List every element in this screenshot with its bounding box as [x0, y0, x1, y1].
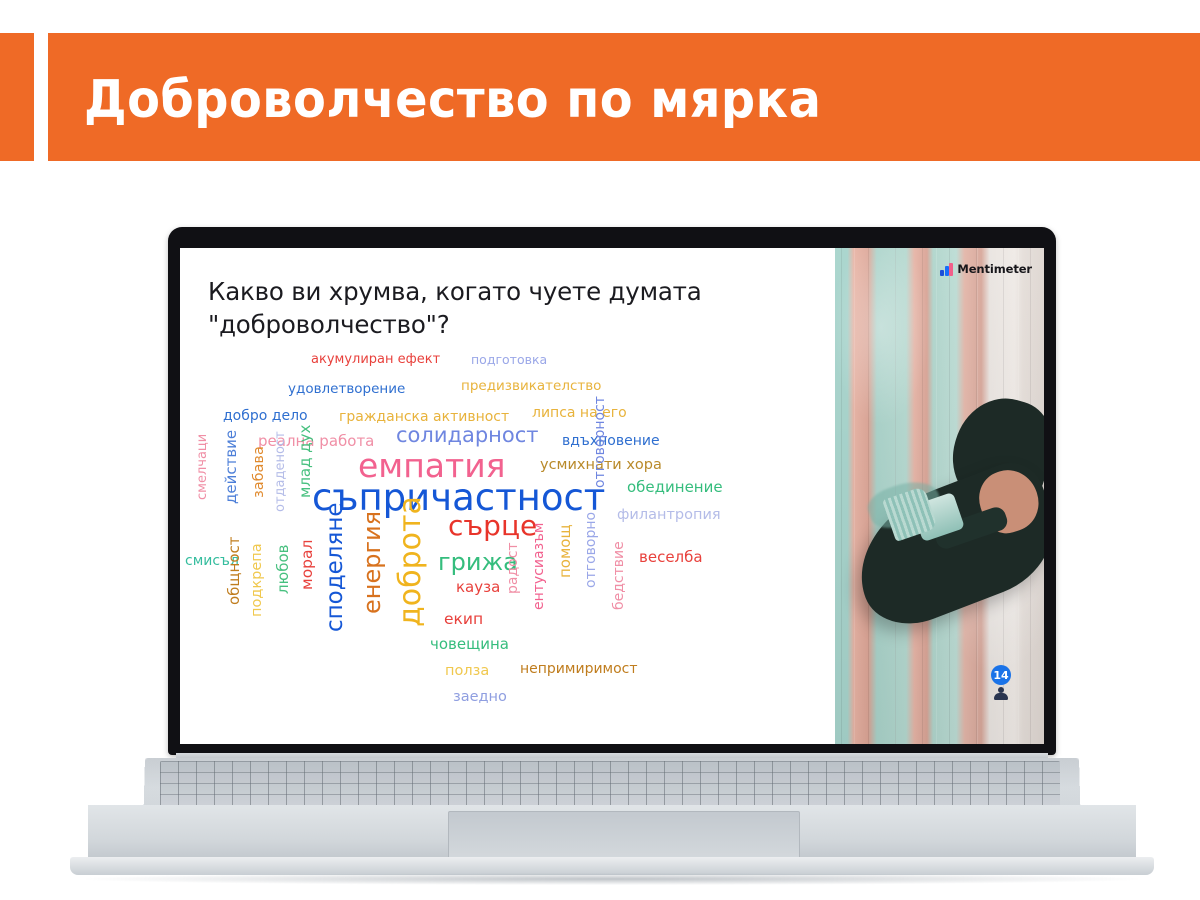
word-cloud-term: акумулиран ефект — [311, 353, 440, 366]
word-cloud-term: помощ — [558, 524, 573, 578]
word-cloud-term: енергия — [360, 511, 384, 614]
word-cloud-term: полза — [445, 664, 489, 679]
word-cloud-term: добро дело — [223, 409, 308, 423]
word-cloud-term: действие — [224, 430, 239, 504]
laptop-shadow — [86, 873, 1138, 885]
mentimeter-logo: Mentimeter — [940, 262, 1032, 276]
slide-question-text: Какво ви хрумва, когато чуете думата "до… — [208, 275, 783, 341]
mentimeter-mark-icon — [940, 263, 953, 276]
word-cloud-term: солидарност — [396, 425, 539, 446]
mentimeter-wordmark: Mentimeter — [957, 262, 1032, 276]
word-cloud-term: отдаденост — [274, 431, 287, 512]
person-icon — [994, 687, 1008, 700]
presentation-slide: Какво ви хрумва, когато чуете думата "до… — [180, 248, 1044, 744]
word-cloud-term: заедно — [453, 690, 507, 705]
laptop-trackpad — [448, 811, 800, 859]
word-cloud-term: подкрепа — [250, 543, 265, 617]
laptop-lid: Какво ви хрумва, когато чуете думата "до… — [168, 227, 1056, 755]
word-cloud-term: общност — [227, 536, 242, 605]
word-cloud-term: екип — [444, 612, 483, 628]
word-cloud-term: човещина — [430, 637, 509, 652]
laptop-keyboard-keys — [160, 761, 1060, 807]
word-cloud-term: филантропия — [617, 508, 721, 523]
word-cloud-term: сърце — [448, 512, 537, 540]
word-cloud-term: обединение — [627, 480, 723, 495]
slide-photo: Mentimeter 14 — [835, 248, 1044, 744]
word-cloud-term: споделяне — [324, 502, 347, 632]
word-cloud-term: морал — [300, 540, 316, 590]
word-cloud-term: непримиримост — [520, 662, 638, 676]
word-cloud-term: кауза — [456, 580, 500, 595]
word-cloud-term: доброта — [396, 496, 426, 627]
banner-accent-block — [0, 33, 34, 161]
word-cloud-term: бедствие — [612, 541, 626, 610]
page-title: Доброволчество по мярка — [84, 69, 821, 131]
word-cloud-term: отговорно — [584, 512, 598, 588]
word-cloud-term: отговорност — [593, 396, 607, 488]
word-cloud-term: вдъхновение — [562, 434, 660, 448]
laptop-device: Какво ви хрумва, когато чуете думата "до… — [0, 205, 1200, 900]
word-cloud-term: смелчаци — [196, 434, 209, 500]
word-cloud-term: предизвикателство — [461, 380, 601, 394]
word-cloud-term: забава — [252, 446, 267, 498]
word-cloud-term: ентусиазъм — [532, 523, 546, 610]
word-cloud-term: веселба — [639, 550, 703, 565]
word-cloud-term: гражданска активност — [339, 410, 509, 424]
word-cloud-term: млад дух — [298, 425, 313, 498]
word-cloud-term: липса на его — [532, 406, 627, 420]
laptop-screen: Какво ви хрумва, когато чуете думата "до… — [180, 248, 1044, 744]
word-cloud-term: радост — [506, 542, 520, 594]
word-cloud-term: любов — [276, 545, 291, 594]
word-cloud-term: удовлетворение — [288, 383, 405, 397]
word-cloud: акумулиран ефектподготовкаудовлетворение… — [180, 352, 835, 682]
word-cloud-term: подготовка — [471, 354, 547, 367]
voter-count-badge: 14 — [991, 665, 1011, 700]
status-badge: 14 — [991, 665, 1011, 685]
